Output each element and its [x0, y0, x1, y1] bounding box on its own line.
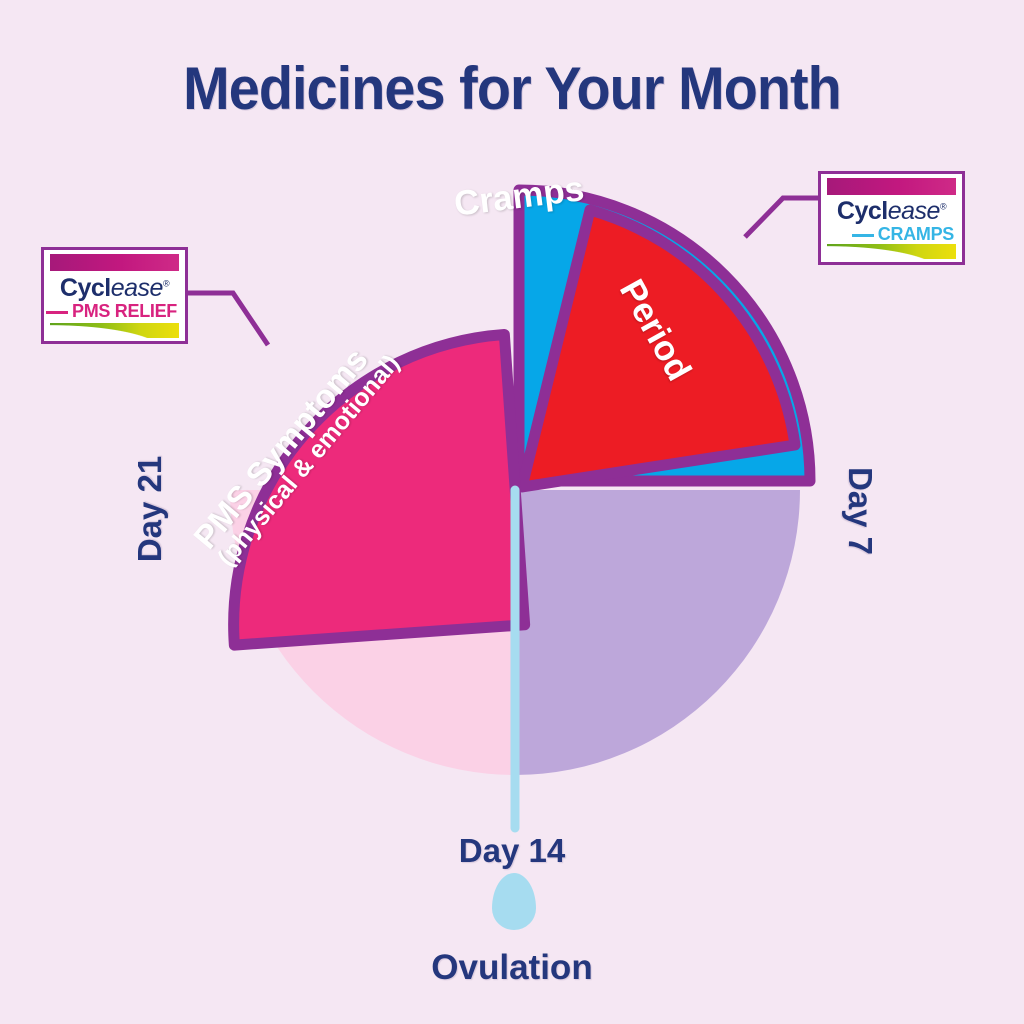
registered-trademark-icon: ®	[163, 279, 169, 289]
infographic-canvas: Medicines for Your Month Cramps Period P…	[0, 0, 1024, 1024]
product-top-bar-magenta	[50, 254, 179, 271]
day-label-7: Day 7	[841, 467, 879, 555]
product-brand-block: Cyclease® CRAMPS	[827, 195, 956, 244]
registered-trademark-icon: ®	[940, 201, 946, 211]
pie-slice-pms[interactable]	[214, 335, 525, 646]
product-box-pms-relief[interactable]: Cyclease® PMS RELIEF	[41, 247, 188, 344]
day-label-21: Day 21	[131, 456, 169, 562]
product-variant-cramps: CRAMPS	[878, 225, 956, 243]
product-brand-name-pms: Cyclease®	[60, 276, 169, 301]
product-brand-block: Cyclease® PMS RELIEF	[50, 271, 179, 323]
product-green-swoosh	[50, 323, 179, 338]
day-label-14: Day 14	[0, 832, 1024, 870]
brand-part-cycl: Cycl	[837, 197, 888, 225]
product-box-cramps[interactable]: Cyclease® CRAMPS	[818, 171, 965, 265]
product-brand-name-cramps: Cyclease®	[837, 199, 946, 224]
product-green-swoosh	[827, 244, 956, 259]
product-top-bar-magenta	[827, 178, 956, 195]
brand-part-ease: ease	[111, 274, 163, 302]
brand-part-cycl: Cycl	[60, 274, 111, 302]
pie-slice-follicular[interactable]	[515, 490, 800, 775]
product-variant-pms-relief: PMS RELIEF	[72, 302, 179, 320]
ovulation-caption: Ovulation	[0, 948, 1024, 988]
connector-line-cramps	[745, 198, 818, 237]
connector-line-pms	[188, 293, 268, 345]
brand-part-ease: ease	[888, 197, 940, 225]
